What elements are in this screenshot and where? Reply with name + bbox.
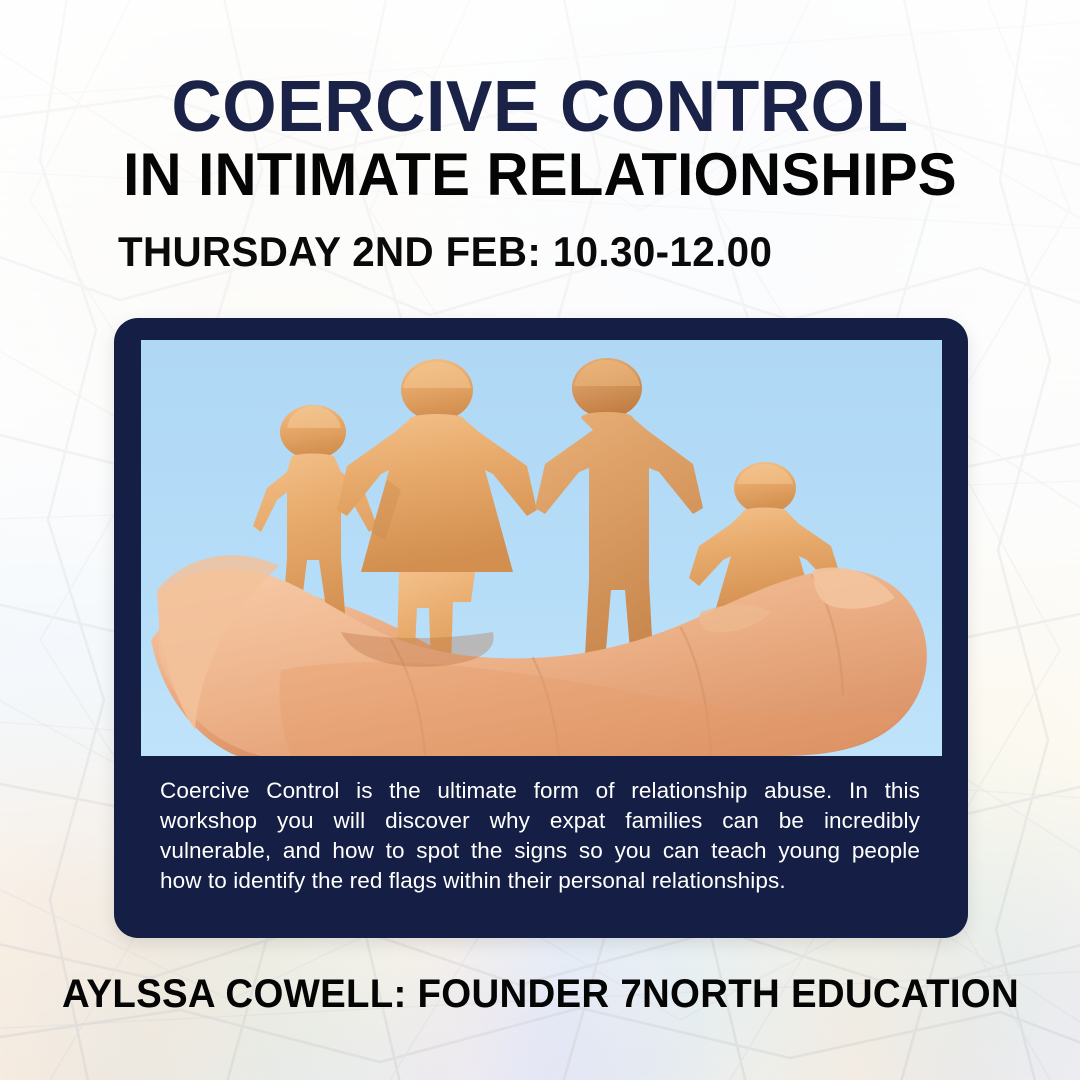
description-line-1: Coercive Control is the ultimate form of… — [160, 776, 920, 806]
content-card: Coercive Control is the ultimate form of… — [114, 318, 968, 938]
poster-canvas: COERCIVE CONTROL IN INTIMATE RELATIONSHI… — [0, 0, 1080, 1080]
description-line-4: how to identify the red flags within the… — [160, 866, 920, 896]
description-line-3: vulnerable, and how to spot the signs so… — [160, 836, 920, 866]
headline-block: COERCIVE CONTROL IN INTIMATE RELATIONSHI… — [0, 74, 1080, 207]
family-figures-photo — [141, 340, 942, 756]
presenter-credit-text: AYLSSA COWELL: FOUNDER 7NORTH EDUCATION — [61, 972, 1018, 1017]
description-line-2: workshop you will discover why expat fam… — [160, 806, 920, 836]
poster-title-line1: COERCIVE CONTROL — [16, 74, 1064, 140]
workshop-description: Coercive Control is the ultimate form of… — [160, 776, 920, 896]
poster-title-line2: IN INTIMATE RELATIONSHIPS — [16, 144, 1064, 206]
presenter-credit: AYLSSA COWELL: FOUNDER 7NORTH EDUCATION — [0, 972, 1080, 1017]
schedule-line: THURSDAY 2ND FEB: 10.30-12.00 — [118, 228, 772, 276]
